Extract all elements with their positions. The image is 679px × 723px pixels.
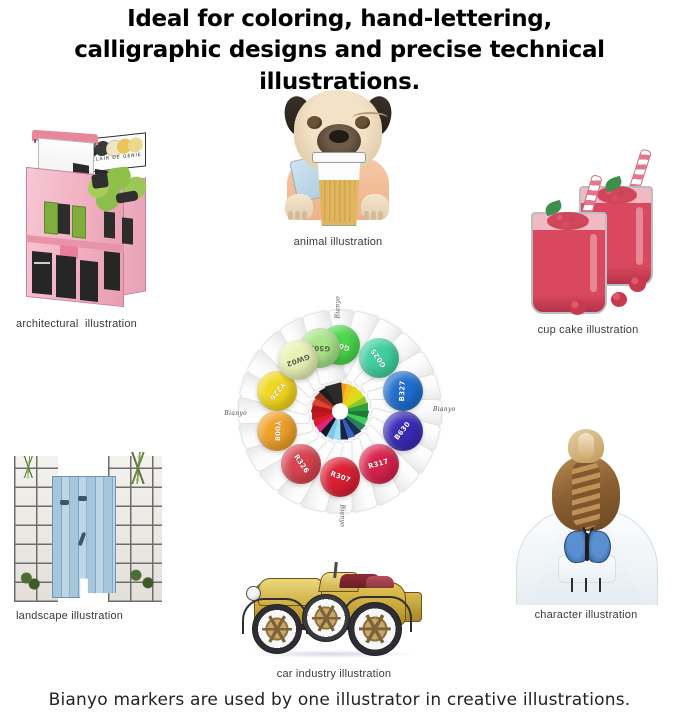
car-headlamp	[246, 586, 261, 601]
caption-architectural: architectural illustration	[8, 318, 174, 330]
berry-topping	[547, 212, 589, 230]
hair-bun-knot	[578, 433, 594, 459]
marker-cap-code: G025	[370, 347, 388, 369]
gate-hinge	[78, 496, 87, 501]
dog-eye-right	[355, 116, 370, 129]
tile-car: car industry illustration	[228, 558, 440, 680]
marker-cap: GW02	[278, 340, 318, 380]
car-wheel-front	[252, 604, 302, 654]
dog-paw-right	[361, 194, 389, 220]
wall-plant	[16, 456, 42, 478]
marker-wheel-photo: BianyoBianyoBianyoBianyo Y226Y008R326R30…	[181, 252, 499, 570]
landscape-illustration-art	[8, 448, 168, 604]
marker-cap: B630	[383, 411, 423, 451]
window	[104, 211, 115, 238]
dog-eye-left	[307, 116, 322, 129]
gate-hinge	[60, 500, 69, 505]
caption-car: car industry illustration	[228, 668, 440, 680]
shopfront-window	[104, 251, 120, 291]
shopfront-window	[32, 251, 52, 295]
marker-cap: R326	[281, 444, 321, 484]
coffee-cup-texture	[319, 180, 357, 222]
marker-cap-code: R317	[368, 458, 390, 471]
window	[58, 203, 70, 234]
braid	[572, 459, 600, 529]
wall-moss	[120, 560, 160, 598]
coffee-cup-lid	[312, 152, 366, 163]
marker-cap-code: B630	[393, 421, 412, 442]
animal-illustration-art	[263, 84, 413, 230]
wall-plant	[118, 452, 160, 484]
tile-architectural: L'ÉCLAIR DE GÉNIE architectural illustra…	[8, 130, 174, 330]
tile-animal: animal illustration	[263, 84, 413, 248]
marker-cap-code: R307	[329, 470, 351, 485]
loose-raspberry	[629, 276, 646, 292]
marker-cap-code: B327	[398, 380, 407, 401]
caption-cupcake: cup cake illustration	[505, 324, 671, 336]
headline-line-1: Ideal for coloring, hand-lettering,	[0, 4, 679, 34]
marker-cap-code: Y226	[268, 380, 287, 401]
car-wheel-spare	[302, 594, 350, 642]
wall-moss	[16, 566, 42, 596]
dog-paw-left	[285, 194, 313, 220]
shopfront-window	[80, 260, 98, 302]
caption-character: character illustration	[506, 609, 666, 621]
loose-raspberry	[569, 300, 586, 315]
marker-cap-code: Y008	[273, 421, 282, 442]
cupcake-illustration-art	[505, 142, 671, 318]
footer-text: Bianyo markers are used by one illustrat…	[49, 690, 631, 710]
marker-cap: R307	[320, 457, 360, 497]
hedge-shadow	[91, 173, 109, 189]
marker-cap: R317	[359, 444, 399, 484]
footer: Bianyo markers are used by one illustrat…	[0, 690, 679, 710]
marker-cap-ring: Y226Y008R326R307R317B630B327G025G015G503…	[181, 252, 499, 570]
window-shutter	[72, 205, 86, 238]
tile-cupcake: cup cake illustration	[505, 142, 671, 336]
marker-cap-code: GW02	[285, 353, 310, 369]
car-illustration-art	[228, 558, 440, 662]
car-seat-rear	[366, 576, 394, 588]
tile-character: character illustration	[506, 425, 666, 621]
dog-nose	[329, 130, 349, 143]
caption-landscape: landscape illustration	[8, 610, 176, 622]
character-illustration-art	[506, 425, 666, 605]
caption-animal: animal illustration	[263, 236, 413, 248]
loose-raspberry	[611, 292, 627, 307]
marker-cap: G025	[359, 338, 399, 378]
shopfront-lettering	[34, 262, 50, 264]
tile-landscape: landscape illustration	[8, 448, 176, 622]
architectural-illustration-art: L'ÉCLAIR DE GÉNIE	[8, 130, 166, 310]
butterfly-icon	[564, 531, 610, 565]
shopfront-window	[56, 255, 76, 299]
car-wheel-rear	[348, 602, 402, 656]
marker-cap: B327	[383, 371, 423, 411]
window-shutter	[44, 201, 58, 234]
marker-cap-code: R326	[292, 454, 310, 476]
window	[122, 217, 133, 244]
